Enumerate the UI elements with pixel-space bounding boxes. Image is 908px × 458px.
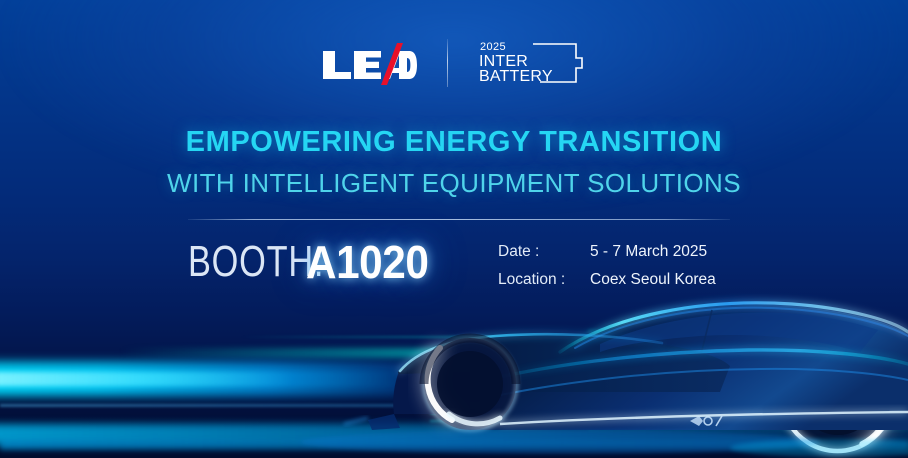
headline-primary: EMPOWERING ENERGY TRANSITION (0, 126, 908, 159)
location-value: Coex Seoul Korea (590, 266, 716, 294)
date-label: Date : (498, 238, 590, 266)
location-label: Location : (498, 266, 590, 294)
booth-label: BOOTH: (188, 236, 324, 288)
headline-secondary: WITH INTELLIGENT EQUIPMENT SOLUTIONS (0, 168, 908, 199)
promo-banner: 2025 INTER BATTERY EMPOWERING ENERGY TRA… (0, 0, 908, 458)
banner-content: EMPOWERING ENERGY TRANSITION WITH INTELL… (0, 0, 908, 458)
event-info: Date : 5 - 7 March 2025 Location : Coex … (498, 238, 716, 294)
date-value: 5 - 7 March 2025 (590, 238, 707, 266)
section-divider (188, 219, 730, 220)
event-location-row: Location : Coex Seoul Korea (498, 266, 716, 294)
booth-number: A1020 (306, 234, 428, 290)
event-date-row: Date : 5 - 7 March 2025 (498, 238, 716, 266)
